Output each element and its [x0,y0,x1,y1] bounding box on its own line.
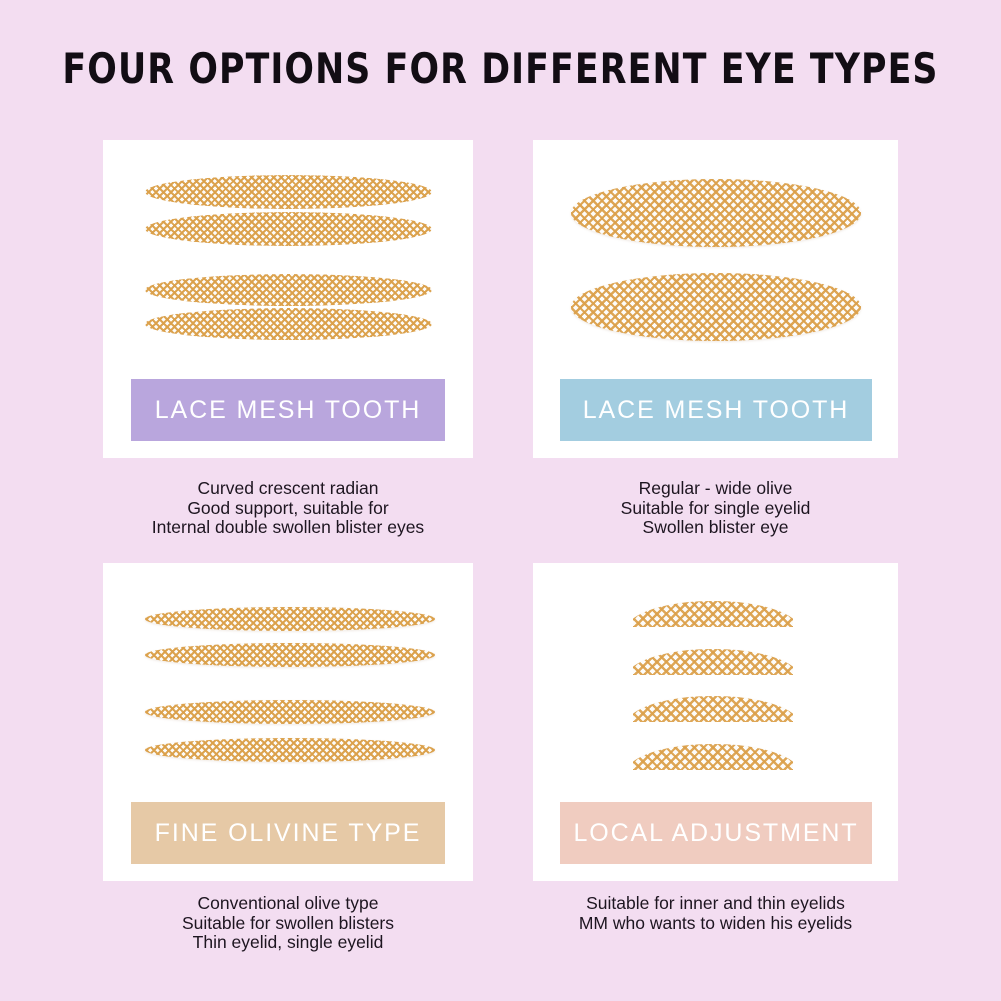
mesh-strip-short-arc [633,696,793,722]
card-banner-label: LACE MESH TOOTH [155,396,422,425]
card-description-fine-olivine: Conventional olive type Suitable for swo… [103,894,473,953]
card-banner-label: LOCAL ADJUSTMENT [573,819,858,848]
card-panel: LOCAL ADJUSTMENT [533,563,898,881]
card-banner-lace-mesh-tooth-blue[interactable]: LACE MESH TOOTH [560,379,872,441]
mesh-strip-short-arc [633,744,793,770]
description-line: MM who wants to widen his eyelids [513,914,918,934]
description-line: Thin eyelid, single eyelid [103,933,473,953]
description-line: Conventional olive type [103,894,473,914]
card-panel: FINE OLIVINE TYPE [103,563,473,881]
mesh-strip-crescent [145,308,432,340]
mesh-strip-crescent [145,175,432,209]
mesh-oval-wide [571,179,861,247]
card-description-crescent: Curved crescent radian Good support, sui… [103,479,473,538]
mesh-strip-short-arc [633,649,793,675]
product-card-local-adjustment[interactable]: LOCAL ADJUSTMENT [533,563,898,881]
product-card-fine-olivine-type[interactable]: FINE OLIVINE TYPE [103,563,473,881]
mesh-strip-thin-olive [145,607,435,631]
description-line: Suitable for swollen blisters [103,914,473,934]
card-banner-fine-olivine-type[interactable]: FINE OLIVINE TYPE [131,802,445,864]
mesh-strip-crescent [145,274,432,306]
card-description-wide-olive: Regular - wide olive Suitable for single… [533,479,898,538]
description-line: Suitable for single eyelid [533,499,898,519]
mesh-strip-crescent [145,212,432,246]
product-card-lace-mesh-tooth-wide-olive[interactable]: LACE MESH TOOTH [533,140,898,458]
card-panel: LACE MESH TOOTH [103,140,473,458]
card-panel: LACE MESH TOOTH [533,140,898,458]
page-title: FOUR OPTIONS FOR DIFFERENT EYE TYPES [40,44,961,93]
mesh-strip-thin-olive [145,738,435,762]
card-description-local-adjustment: Suitable for inner and thin eyelids MM w… [513,894,918,933]
description-line: Internal double swollen blister eyes [103,518,473,538]
description-line: Suitable for inner and thin eyelids [513,894,918,914]
mesh-oval-wide [571,273,861,341]
description-line: Swollen blister eye [533,518,898,538]
description-line: Good support, suitable for [103,499,473,519]
card-banner-lace-mesh-tooth-purple[interactable]: LACE MESH TOOTH [131,379,445,441]
mesh-strip-short-arc [633,601,793,627]
description-line: Regular - wide olive [533,479,898,499]
card-banner-label: LACE MESH TOOTH [583,396,850,425]
card-banner-local-adjustment[interactable]: LOCAL ADJUSTMENT [560,802,872,864]
mesh-strip-thin-olive [145,643,435,667]
infographic-root: FOUR OPTIONS FOR DIFFERENT EYE TYPES LAC… [0,0,1001,1001]
mesh-strip-thin-olive [145,700,435,724]
card-banner-label: FINE OLIVINE TYPE [155,819,422,848]
product-card-lace-mesh-tooth-crescent[interactable]: LACE MESH TOOTH [103,140,473,458]
description-line: Curved crescent radian [103,479,473,499]
